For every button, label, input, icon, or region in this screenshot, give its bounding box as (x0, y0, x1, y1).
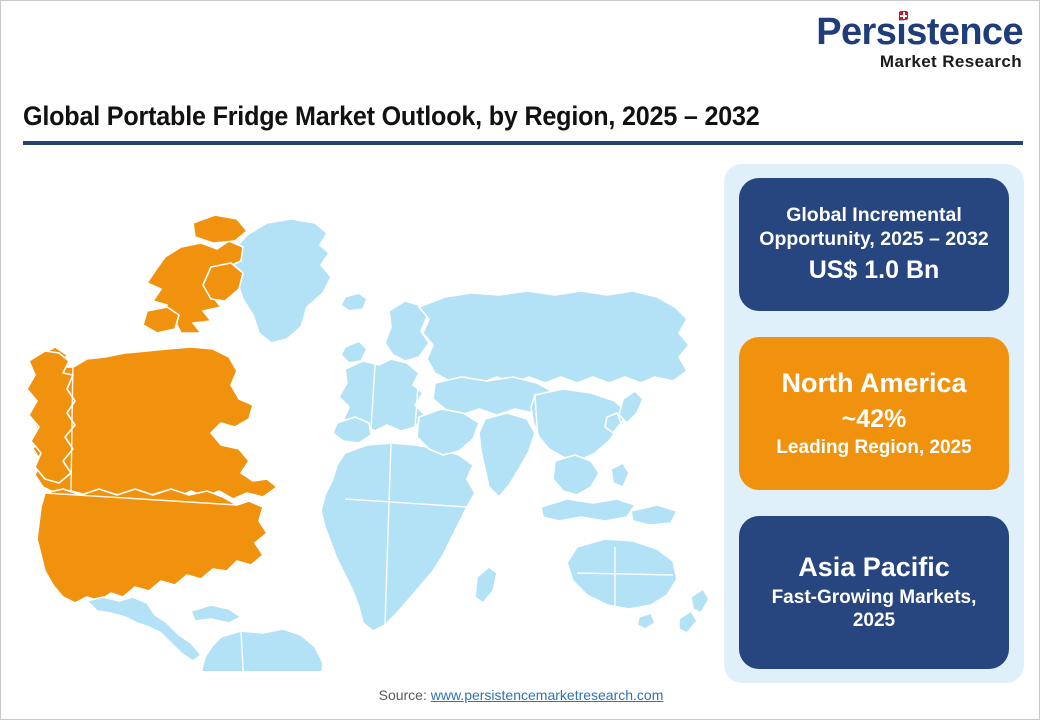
card-leading-region[interactable]: North America ~42% Leading Region, 2025 (739, 337, 1009, 490)
source-label: Source: (379, 687, 427, 703)
map-region-victoria-island (143, 307, 179, 333)
opportunity-label-line1: Global Incremental (786, 204, 962, 228)
leading-region-share: ~42% (842, 404, 907, 434)
card-fast-growing-market[interactable]: Asia Pacific Fast-Growing Markets, 2025 (739, 516, 1009, 669)
map-region-new-guinea (631, 505, 677, 525)
map-region-south-america (201, 629, 323, 671)
leading-region-caption: Leading Region, 2025 (776, 437, 971, 460)
source-footer: Source: www.persistencemarketresearch.co… (1, 687, 1040, 703)
title-underline-rule (23, 141, 1023, 145)
source-link[interactable]: www.persistencemarketresearch.com (431, 687, 664, 703)
map-region-mexico (87, 597, 201, 661)
map-region-iceland (341, 293, 367, 311)
map-region-british-isles (341, 341, 367, 363)
map-region-united-states (37, 489, 267, 603)
map-region-greenland (231, 219, 331, 343)
world-map (15, 161, 715, 671)
map-region-new-zealand (691, 589, 709, 613)
title-block: Global Portable Fridge Market Outlook, b… (23, 101, 1023, 145)
map-region-japan (619, 391, 643, 423)
opportunity-label-line2: Opportunity, 2025 – 2032 (759, 228, 988, 252)
infographic-page: Persistence Market Research Global Porta… (0, 0, 1040, 720)
map-region-russia (419, 291, 689, 383)
map-region-new-zealand-south (679, 611, 697, 633)
world-map-svg (15, 161, 715, 671)
fast-growing-region-name: Asia Pacific (798, 552, 950, 584)
map-region-iberia (333, 417, 371, 443)
stats-panel: Global Incremental Opportunity, 2025 – 2… (724, 164, 1024, 683)
map-region-ellesmere (193, 215, 247, 243)
logo-primary-text: Persistence (813, 13, 1023, 51)
opportunity-value: US$ 1.0 Bn (809, 255, 940, 285)
map-region-caribbean (191, 605, 241, 623)
map-region-southeast-asia (553, 455, 599, 495)
company-logo: Persistence Market Research (813, 13, 1023, 75)
leading-region-name: North America (781, 368, 966, 400)
logo-secondary-label: Market Research (813, 53, 1022, 70)
map-region-india (479, 413, 535, 497)
map-region-tasmania (637, 613, 655, 629)
map-region-indonesia (541, 499, 635, 521)
map-region-philippines (611, 463, 629, 487)
card-global-incremental-opportunity[interactable]: Global Incremental Opportunity, 2025 – 2… (739, 178, 1009, 311)
map-region-madagascar (475, 567, 497, 603)
page-title: Global Portable Fridge Market Outlook, b… (23, 101, 953, 132)
map-region-africa (321, 443, 475, 631)
logo-cross-dot-icon (899, 11, 908, 20)
fast-growing-caption: Fast-Growing Markets, 2025 (753, 587, 995, 633)
logo-primary-label: Persistence (816, 11, 1023, 53)
